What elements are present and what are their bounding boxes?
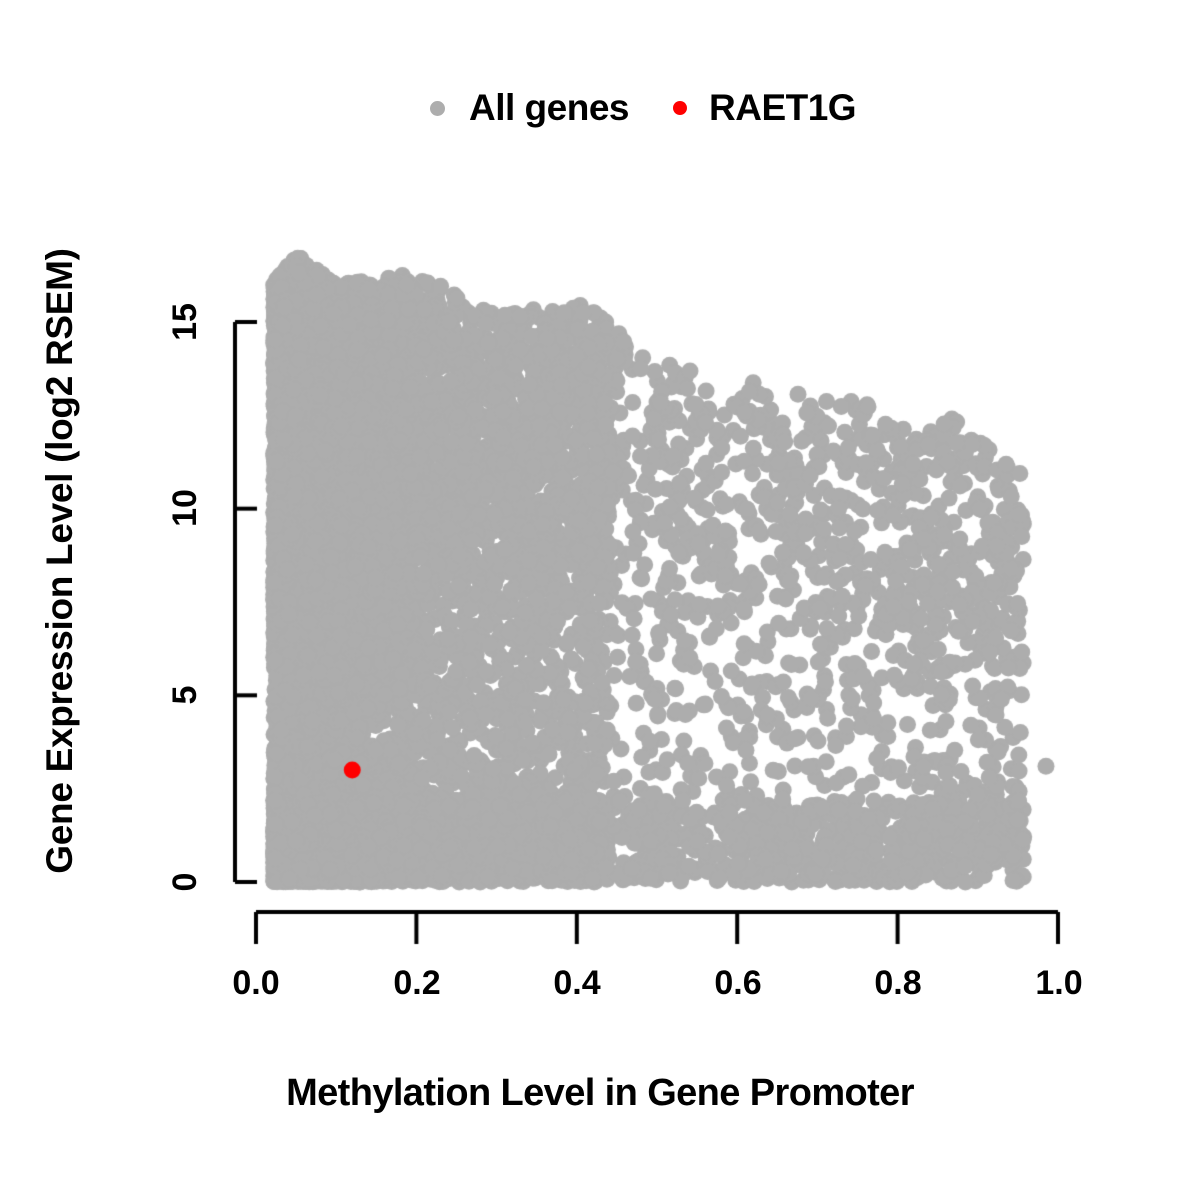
x-axis-title: Methylation Level in Gene Promoter bbox=[0, 1072, 1200, 1115]
x-tick-label-00: 0.0 bbox=[201, 963, 311, 1003]
legend-label-all-genes: All genes bbox=[469, 87, 629, 129]
legend-gray-dot-icon bbox=[430, 101, 445, 116]
legend-spacer bbox=[629, 108, 673, 109]
legend-label-raet1g: RAET1G bbox=[709, 87, 856, 129]
y-tick-label-10: 10 bbox=[165, 478, 205, 538]
x-tick-label-06: 0.6 bbox=[683, 963, 793, 1003]
y-tick-label-5: 5 bbox=[165, 665, 205, 725]
y-axis-title: Gene Expression Level (log2 RSEM) bbox=[39, 161, 81, 961]
y-tick-label-15: 15 bbox=[165, 292, 205, 352]
x-tick-label-08: 0.8 bbox=[843, 963, 953, 1003]
scatter-plot-canvas bbox=[0, 0, 1200, 1200]
legend-entry-all-genes: All genes bbox=[430, 87, 629, 129]
x-tick-label-04: 0.4 bbox=[522, 963, 632, 1003]
scatter-plot-figure: All genes RAET1G Gene Expression Level (… bbox=[0, 0, 1200, 1200]
chart-legend: All genes RAET1G bbox=[430, 80, 970, 136]
legend-entry-raet1g: RAET1G bbox=[673, 87, 856, 129]
x-tick-label-10: 1.0 bbox=[1004, 963, 1114, 1003]
legend-red-dot-icon bbox=[673, 101, 687, 115]
x-tick-label-02: 0.2 bbox=[362, 963, 472, 1003]
y-tick-label-0: 0 bbox=[165, 852, 205, 912]
